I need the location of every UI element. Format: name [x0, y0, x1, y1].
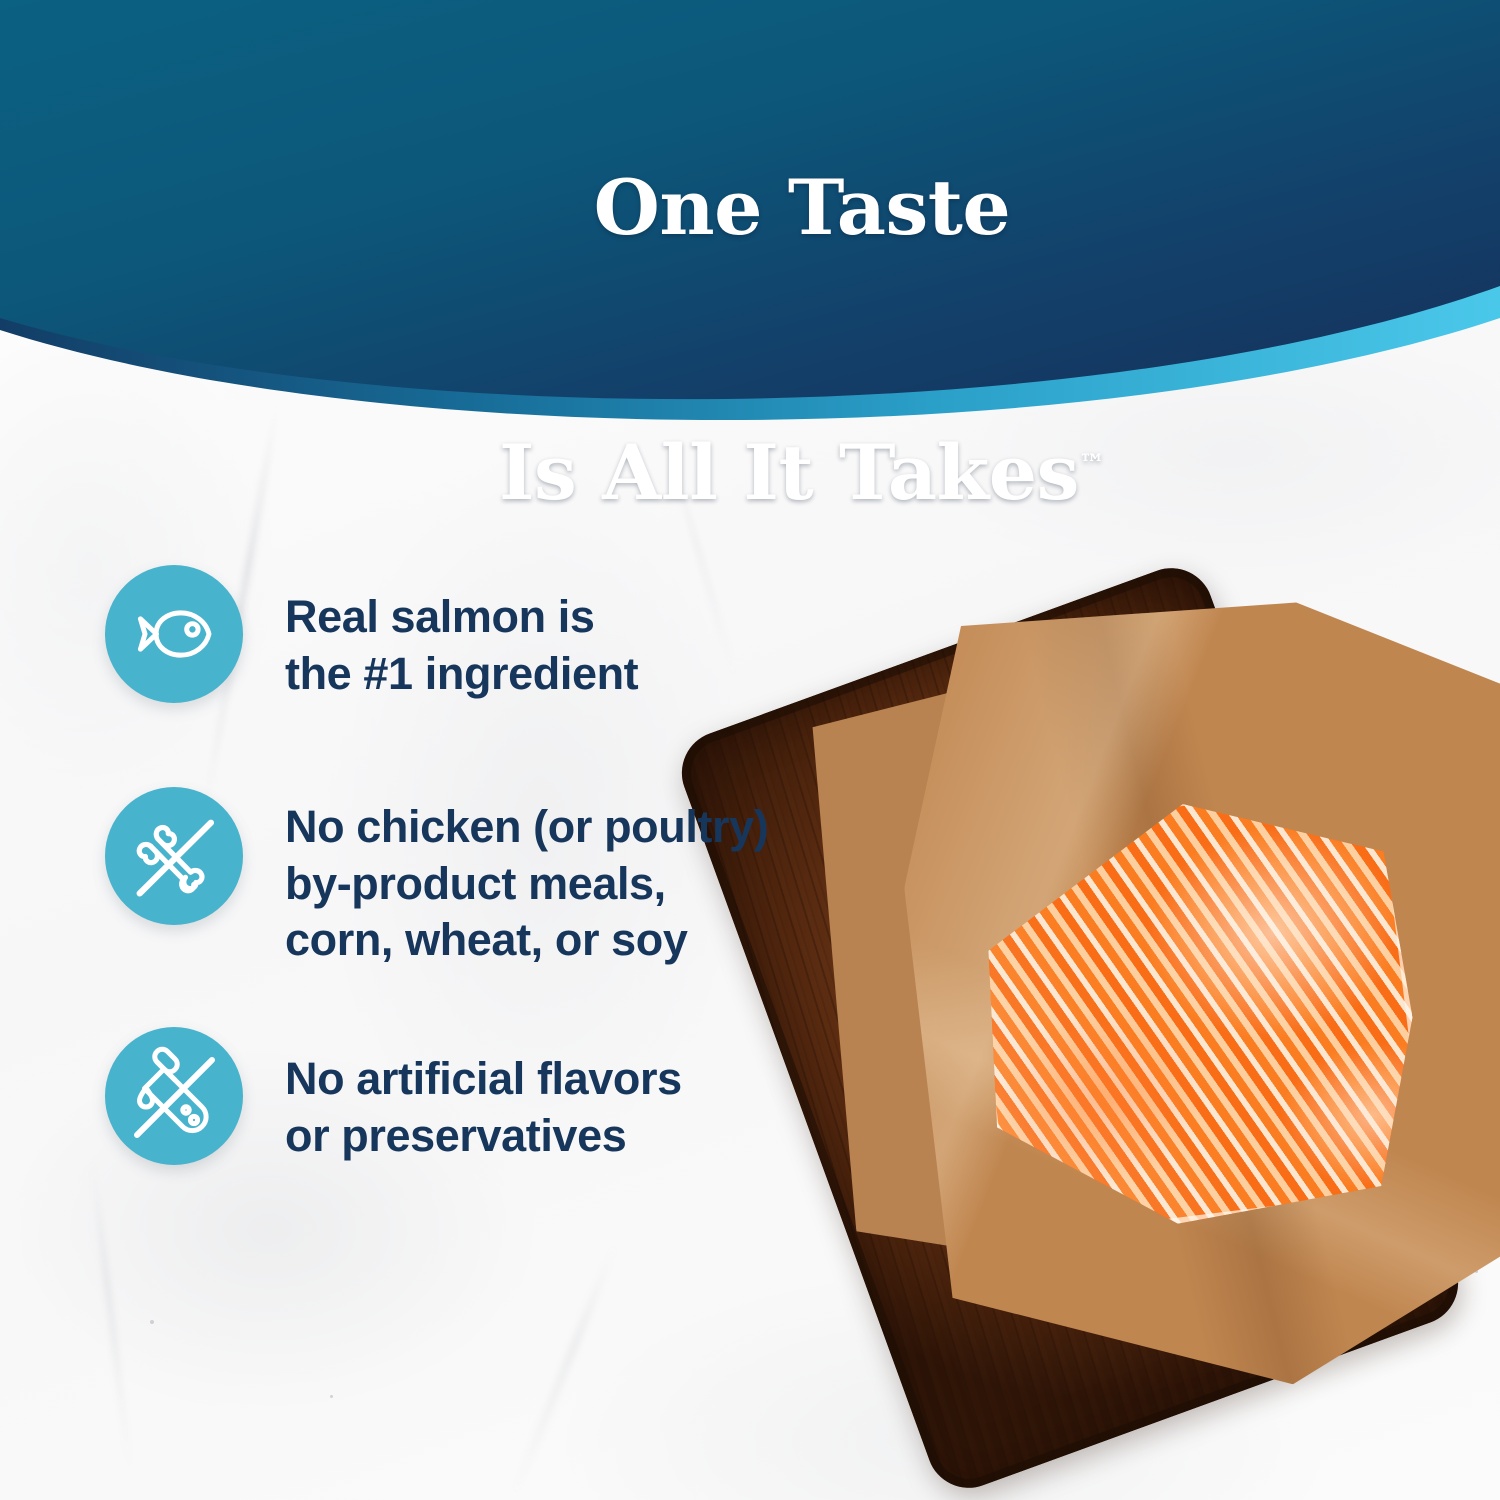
headline-line-2: Is All It Takes: [499, 428, 1079, 517]
list-item-label: No chicken (or poultry) by-product meals…: [285, 787, 768, 969]
fish-icon: [128, 588, 220, 680]
no-test-tube-icon: [124, 1046, 224, 1146]
marble-vein: [1409, 1051, 1457, 1349]
trademark-symbol: ™: [1079, 449, 1105, 479]
marble-speck: [330, 1395, 333, 1398]
product-feature-card: One Taste Is All It Takes™ Real salmon i…: [0, 0, 1500, 1500]
list-item-label: No artificial flavors or preservatives: [285, 1027, 682, 1164]
page-title: One Taste Is All It Takes™: [0, 76, 1500, 605]
marble-speck: [845, 1175, 848, 1178]
fish-icon-badge: [105, 565, 243, 703]
list-item-label: Real salmon is the #1 ingredient: [285, 565, 638, 702]
no-test-tube-icon-badge: [105, 1027, 243, 1165]
no-bone-icon-badge: [105, 787, 243, 925]
marble-speck: [905, 690, 909, 694]
list-item: Real salmon is the #1 ingredient: [105, 565, 638, 703]
marble-vein: [88, 1151, 134, 1479]
marble-speck: [150, 1320, 154, 1324]
list-item: No artificial flavors or preservatives: [105, 1027, 682, 1165]
headline-line-1: One Taste: [594, 163, 1011, 252]
no-bone-icon: [122, 804, 226, 908]
list-item: No chicken (or poultry) by-product meals…: [105, 787, 768, 969]
marble-speck: [1475, 1270, 1478, 1273]
marble-vein: [508, 1239, 621, 1500]
